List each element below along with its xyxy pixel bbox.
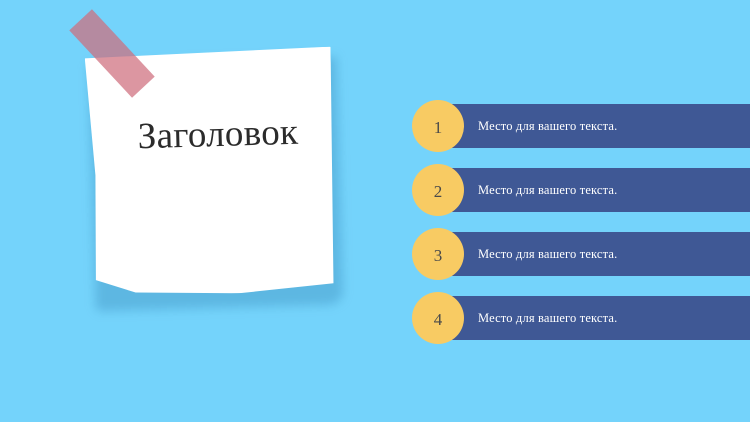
list-item-text: Место для вашего текста. <box>478 168 617 212</box>
slide-canvas: Заголовок 1 Место для вашего текста. 2 М… <box>0 0 750 422</box>
page-title: Заголовок <box>88 112 349 158</box>
list-item-number: 4 <box>434 308 443 328</box>
list-item-text: Место для вашего текста. <box>478 104 617 148</box>
list-item-number: 3 <box>434 244 443 264</box>
list-item[interactable]: 4 Место для вашего текста. <box>412 296 750 340</box>
numbered-list: 1 Место для вашего текста. 2 Место для в… <box>412 104 750 340</box>
list-item-badge: 2 <box>412 164 464 216</box>
list-item-badge: 4 <box>412 292 464 344</box>
list-item-text: Место для вашего текста. <box>478 296 617 340</box>
list-item-badge: 1 <box>412 100 464 152</box>
list-item-number: 2 <box>434 180 443 200</box>
sticky-note[interactable]: Заголовок <box>88 50 348 310</box>
list-item[interactable]: 1 Место для вашего текста. <box>412 104 750 148</box>
list-item-badge: 3 <box>412 228 464 280</box>
list-item[interactable]: 3 Место для вашего текста. <box>412 232 750 276</box>
list-item[interactable]: 2 Место для вашего текста. <box>412 168 750 212</box>
list-item-number: 1 <box>434 116 443 136</box>
list-item-text: Место для вашего текста. <box>478 232 617 276</box>
